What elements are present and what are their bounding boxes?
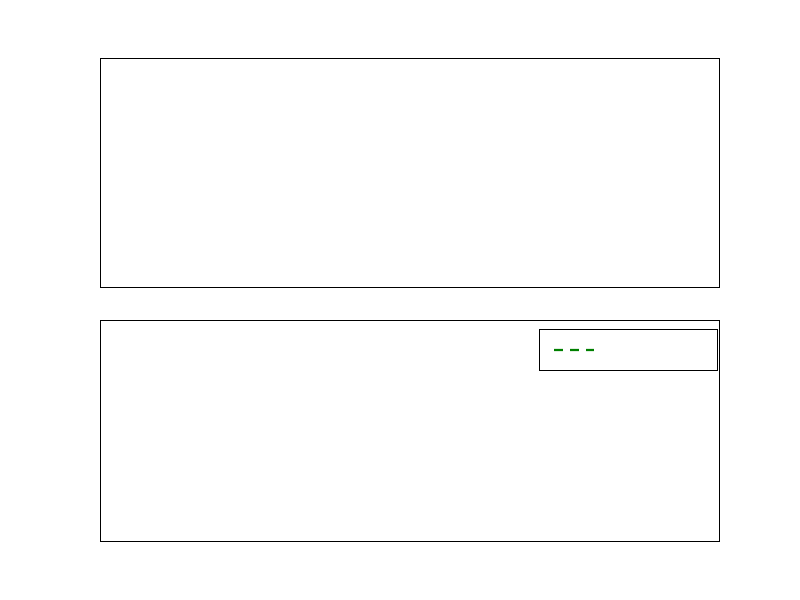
mag-limit-dash-icon <box>552 343 596 357</box>
histogram-plot-area <box>101 59 719 287</box>
figure-canvas <box>0 0 800 600</box>
histogram-panel <box>100 58 720 288</box>
legend <box>539 329 718 371</box>
